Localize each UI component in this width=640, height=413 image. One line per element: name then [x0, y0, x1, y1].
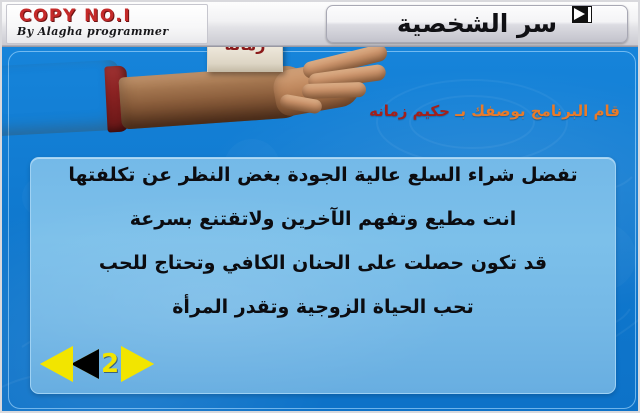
pager: 2: [71, 349, 149, 379]
triangle-right-icon[interactable]: [121, 349, 149, 379]
result-panel: تفضل شراء السلع عالية الجودة بغض النظر ع…: [30, 157, 616, 394]
result-subtitle: قام البرنامج بوصفك بـ حكيم زمانه: [369, 102, 620, 120]
finger-shape: [302, 82, 366, 99]
page-number: 2: [100, 351, 120, 377]
result-line: قد تكون حصلت على الحنان الكافي وتحتاج لل…: [31, 254, 615, 273]
brand-logo: COPY NO.I By Alagha programmer: [6, 4, 208, 44]
result-line: تحب الحياة الزوجية وتقدر المرأة: [31, 298, 615, 317]
sleeve-shape: [0, 60, 122, 137]
result-subtitle-prefix: قام البرنامج بوصفك بـ: [455, 102, 620, 120]
result-line: تفضل شراء السلع عالية الجودة بغض النظر ع…: [31, 166, 615, 185]
result-subtitle-value: حكيم زمانه: [369, 102, 450, 120]
result-text-list: تفضل شراء السلع عالية الجودة بغض النظر ع…: [31, 166, 615, 342]
page-title: سر الشخصية: [397, 11, 557, 38]
hand-photo: [2, 47, 402, 142]
title-bar-separator: [2, 45, 640, 47]
application-window: حكيم زمانه قام البرنامج بوصفك بـ حكيم زم…: [0, 0, 640, 413]
brand-logo-title: COPY NO.I: [19, 6, 131, 26]
result-line: انت مطيع وتفهم الآخرين ولاتقتنع بسرعة: [31, 210, 615, 229]
triangle-left-icon[interactable]: [71, 349, 99, 379]
window-frame: حكيم زمانه قام البرنامج بوصفك بـ حكيم زم…: [0, 0, 640, 413]
film-play-icon: [572, 6, 592, 23]
brand-logo-subtitle: By Alagha programmer: [17, 25, 169, 38]
